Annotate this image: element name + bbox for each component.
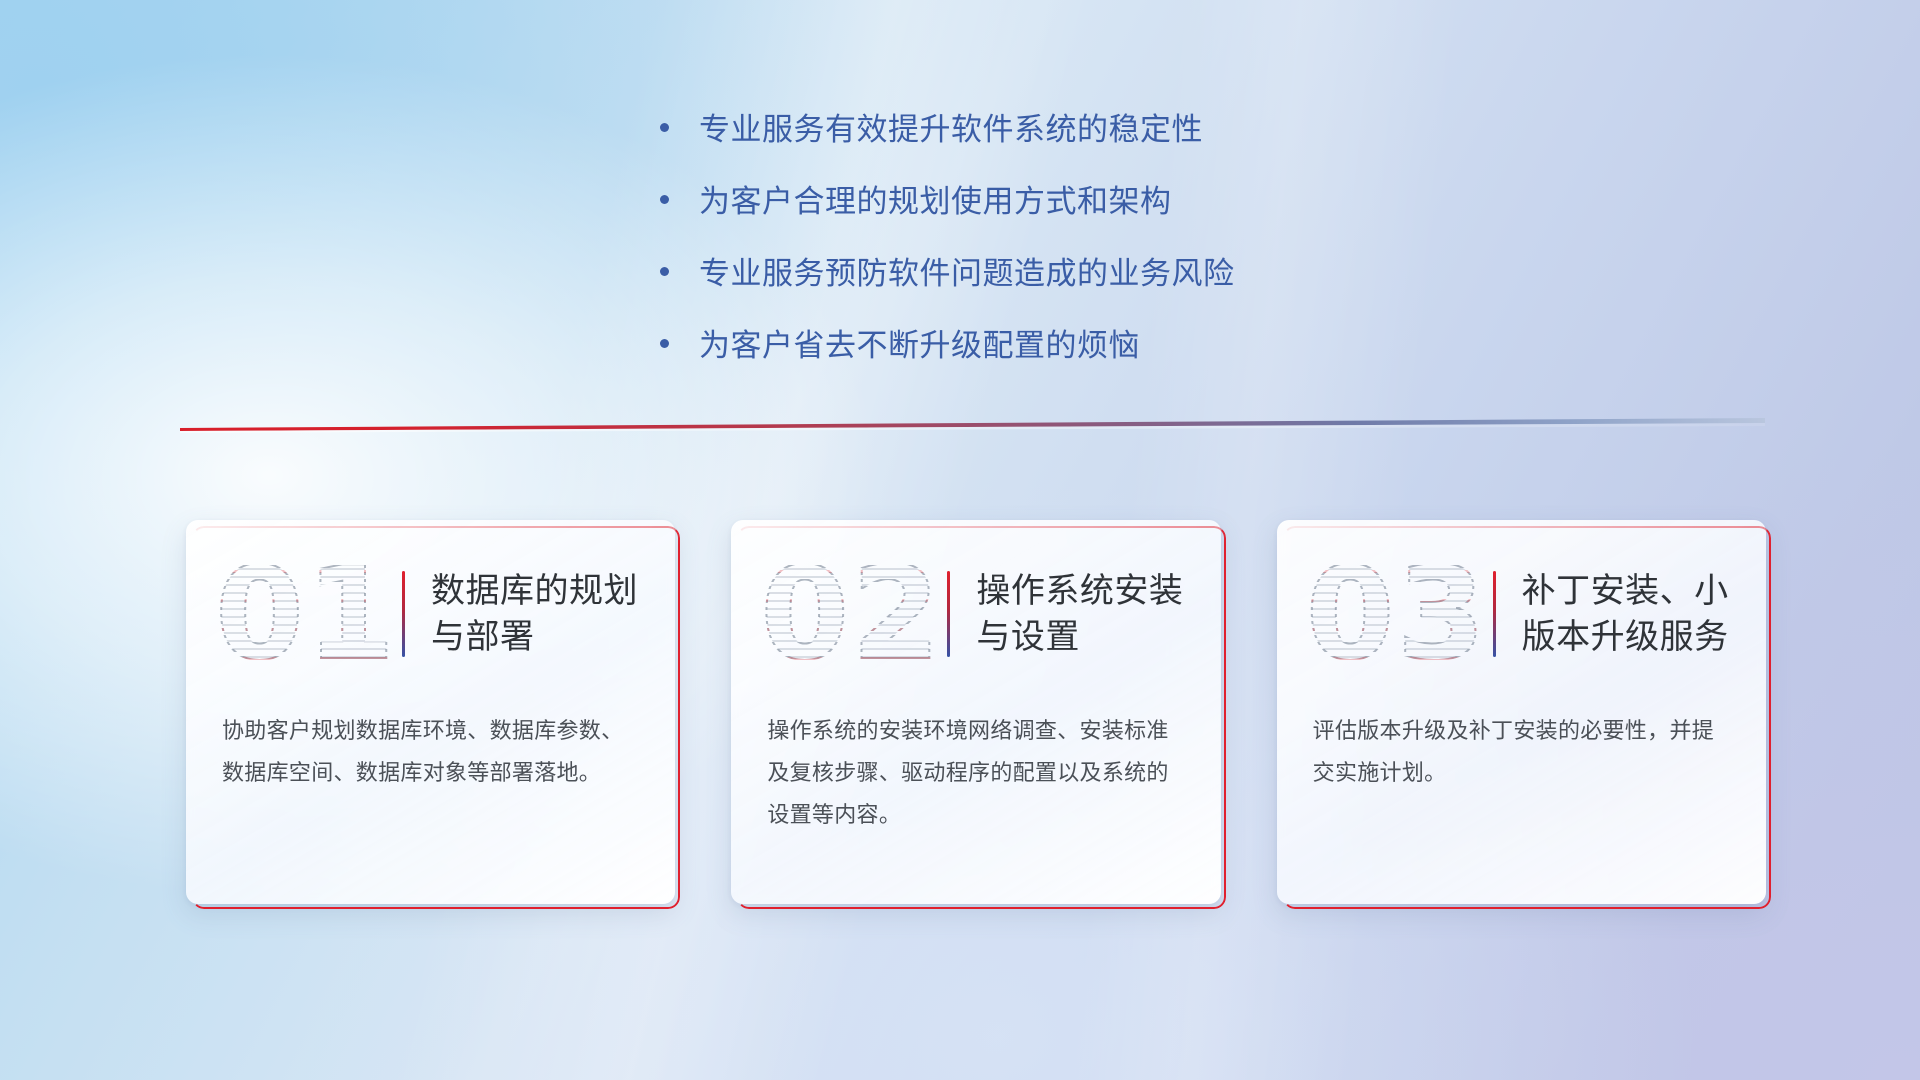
list-item: 为客户合理的规划使用方式和架构 [660, 180, 1420, 224]
title-accent-bar [947, 571, 950, 657]
service-card[interactable]: 03 03 03 补丁安装、小版本升级服务 评估版本升级及补丁安装的必要性，并提… [1277, 520, 1766, 904]
card-header: 03 03 03 补丁安装、小版本升级服务 [1277, 520, 1766, 708]
card-number-tint: 03 [1307, 544, 1487, 684]
service-card[interactable]: 01 01 01 数据库的规划与部署 协助客户规划数据库环境、数据库参数、数据库… [186, 520, 675, 904]
section-divider [180, 412, 1765, 434]
card-body-text: 操作系统的安装环境网络调查、安装标准及复核步骤、驱动程序的配置以及系统的设置等内… [731, 708, 1220, 836]
slide-canvas: 专业服务有效提升软件系统的稳定性 为客户合理的规划使用方式和架构 专业服务预防软… [0, 0, 1920, 1080]
list-item: 专业服务预防软件问题造成的业务风险 [660, 252, 1420, 296]
card-number-watermark: 01 01 01 [216, 544, 396, 684]
bullet-text: 为客户省去不断升级配置的烦恼 [699, 324, 1140, 368]
card-header: 01 01 01 数据库的规划与部署 [186, 520, 675, 708]
bullet-dot-icon [660, 339, 669, 348]
bullet-dot-icon [660, 123, 669, 132]
card-number-tint: 01 [216, 544, 396, 684]
bullet-text: 为客户合理的规划使用方式和架构 [699, 180, 1172, 224]
divider-line-icon [180, 412, 1765, 434]
title-accent-bar [1493, 571, 1496, 657]
bullet-dot-icon [660, 267, 669, 276]
service-card-row: 01 01 01 数据库的规划与部署 协助客户规划数据库环境、数据库参数、数据库… [186, 520, 1766, 920]
bullet-text: 专业服务预防软件问题造成的业务风险 [699, 252, 1235, 296]
service-card[interactable]: 02 02 02 操作系统安装与设置 操作系统的安装环境网络调查、安装标准及复核… [731, 520, 1220, 904]
card-body-text: 评估版本升级及补丁安装的必要性，并提交实施计划。 [1277, 708, 1766, 794]
list-item: 专业服务有效提升软件系统的稳定性 [660, 108, 1420, 152]
card-number-watermark: 02 02 02 [761, 544, 941, 684]
card-header: 02 02 02 操作系统安装与设置 [731, 520, 1220, 708]
title-accent-bar [402, 571, 405, 657]
benefits-bullet-list: 专业服务有效提升软件系统的稳定性 为客户合理的规划使用方式和架构 专业服务预防软… [660, 108, 1420, 396]
card-title: 数据库的规划与部署 [431, 568, 661, 660]
card-title: 补丁安装、小版本升级服务 [1522, 568, 1752, 660]
card-body-text: 协助客户规划数据库环境、数据库参数、数据库空间、数据库对象等部署落地。 [186, 708, 675, 794]
bullet-dot-icon [660, 195, 669, 204]
card-number-tint: 02 [761, 544, 941, 684]
list-item: 为客户省去不断升级配置的烦恼 [660, 324, 1420, 368]
card-number-watermark: 03 03 03 [1307, 544, 1487, 684]
card-title: 操作系统安装与设置 [976, 568, 1206, 660]
bullet-text: 专业服务有效提升软件系统的稳定性 [699, 108, 1203, 152]
